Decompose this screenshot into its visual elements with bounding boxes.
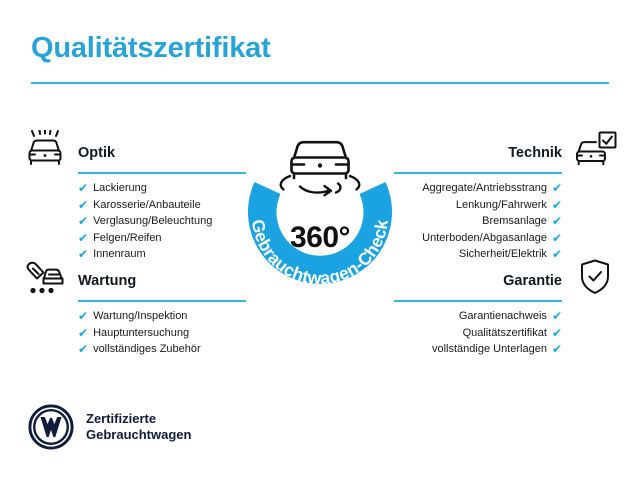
footer-line-2: Gebrauchtwagen bbox=[86, 427, 191, 442]
footer-brand: Zertifizierte Gebrauchtwagen bbox=[28, 404, 191, 450]
list-item-label: vollständiges Zubehör bbox=[93, 341, 201, 358]
list-item-label: Qualitätszertifikat bbox=[463, 325, 547, 342]
check-icon: ✔ bbox=[552, 199, 562, 211]
badge-degree-label: 360° bbox=[228, 221, 412, 255]
check-icon: ✔ bbox=[552, 215, 562, 227]
section-header: Garantie bbox=[388, 256, 620, 302]
section-underline bbox=[78, 172, 246, 174]
check-icon: ✔ bbox=[552, 182, 562, 194]
list-item-label: Bremsanlage bbox=[482, 213, 547, 230]
list-item: ✔ Felgen/Reifen bbox=[20, 230, 252, 247]
certificate-page: Qualitätszertifikat Optik ✔ Lackierung bbox=[0, 0, 640, 480]
section-title: Garantie bbox=[503, 273, 562, 289]
list-item: Qualitätszertifikat ✔ bbox=[388, 325, 620, 342]
car-shine-icon bbox=[22, 130, 68, 168]
check-icon: ✔ bbox=[78, 232, 88, 244]
list-item-label: Hauptuntersuchung bbox=[93, 325, 189, 342]
check-icon: ✔ bbox=[552, 310, 562, 322]
section-underline bbox=[394, 172, 562, 174]
check-icon: ✔ bbox=[78, 327, 88, 339]
section-underline bbox=[78, 300, 246, 302]
list-item-label: Wartung/Inspektion bbox=[93, 308, 187, 325]
list-item: ✔ Karosserie/Anbauteile bbox=[20, 197, 252, 214]
check-icon: ✔ bbox=[78, 343, 88, 355]
car-checkbox-icon bbox=[572, 130, 618, 168]
check-icon: ✔ bbox=[78, 215, 88, 227]
list-item: Unterboden/Abgasanlage ✔ bbox=[388, 230, 620, 247]
car-rotate-icon bbox=[281, 142, 360, 195]
section-garantie: Garantie Garantienachweis ✔ Qualitätszer… bbox=[388, 256, 620, 358]
list-item: Aggregate/Antriebsstrang ✔ bbox=[388, 180, 620, 197]
wrench-car-icon bbox=[22, 258, 68, 296]
section-title: Wartung bbox=[78, 273, 136, 289]
list-item: vollständige Unterlagen ✔ bbox=[388, 341, 620, 358]
check-icon: ✔ bbox=[78, 310, 88, 322]
page-title: Qualitätszertifikat bbox=[31, 32, 271, 65]
section-wartung: Wartung ✔ Wartung/Inspektion ✔ Hauptunte… bbox=[20, 256, 252, 358]
check-icon: ✔ bbox=[78, 182, 88, 194]
check-icon: ✔ bbox=[78, 199, 88, 211]
footer-text: Zertifizierte Gebrauchtwagen bbox=[86, 411, 191, 443]
checklist-wartung: ✔ Wartung/Inspektion ✔ Hauptuntersuchung… bbox=[20, 308, 252, 358]
check-icon: ✔ bbox=[552, 232, 562, 244]
list-item: ✔ Verglasung/Beleuchtung bbox=[20, 213, 252, 230]
checklist-garantie: Garantienachweis ✔ Qualitätszertifikat ✔… bbox=[388, 308, 620, 358]
section-header: Wartung bbox=[20, 256, 252, 302]
section-optik: Optik ✔ Lackierung ✔ Karosserie/Anbautei… bbox=[20, 128, 252, 263]
list-item: ✔ vollständiges Zubehör bbox=[20, 341, 252, 358]
360-check-badge: Gebrauchtwagen-Check 360° bbox=[228, 120, 412, 304]
list-item: Lenkung/Fahrwerk ✔ bbox=[388, 197, 620, 214]
shield-check-icon bbox=[572, 258, 618, 296]
list-item-label: Lackierung bbox=[93, 180, 147, 197]
section-header: Technik bbox=[388, 128, 620, 174]
list-item: Garantienachweis ✔ bbox=[388, 308, 620, 325]
checklist-optik: ✔ Lackierung ✔ Karosserie/Anbauteile ✔ V… bbox=[20, 180, 252, 263]
list-item-label: Verglasung/Beleuchtung bbox=[93, 213, 212, 230]
section-header: Optik bbox=[20, 128, 252, 174]
section-technik: Technik Aggregate/Antriebsstrang ✔ Lenku… bbox=[388, 128, 620, 263]
list-item-label: Unterboden/Abgasanlage bbox=[422, 230, 547, 247]
list-item-label: Lenkung/Fahrwerk bbox=[456, 197, 547, 214]
list-item: ✔ Hauptuntersuchung bbox=[20, 325, 252, 342]
list-item-label: Aggregate/Antriebsstrang bbox=[422, 180, 547, 197]
list-item-label: Karosserie/Anbauteile bbox=[93, 197, 201, 214]
list-item: ✔ Lackierung bbox=[20, 180, 252, 197]
list-item-label: Felgen/Reifen bbox=[93, 230, 162, 247]
section-title: Optik bbox=[78, 145, 115, 161]
header-divider bbox=[31, 82, 609, 84]
vw-logo-icon bbox=[28, 404, 74, 450]
list-item: Bremsanlage ✔ bbox=[388, 213, 620, 230]
footer-line-1: Zertifizierte bbox=[86, 411, 156, 426]
section-title: Technik bbox=[508, 145, 562, 161]
list-item-label: vollständige Unterlagen bbox=[432, 341, 547, 358]
check-icon: ✔ bbox=[552, 327, 562, 339]
section-underline bbox=[394, 300, 562, 302]
list-item: ✔ Wartung/Inspektion bbox=[20, 308, 252, 325]
checklist-technik: Aggregate/Antriebsstrang ✔ Lenkung/Fahrw… bbox=[388, 180, 620, 263]
check-icon: ✔ bbox=[552, 343, 562, 355]
list-item-label: Garantienachweis bbox=[459, 308, 547, 325]
